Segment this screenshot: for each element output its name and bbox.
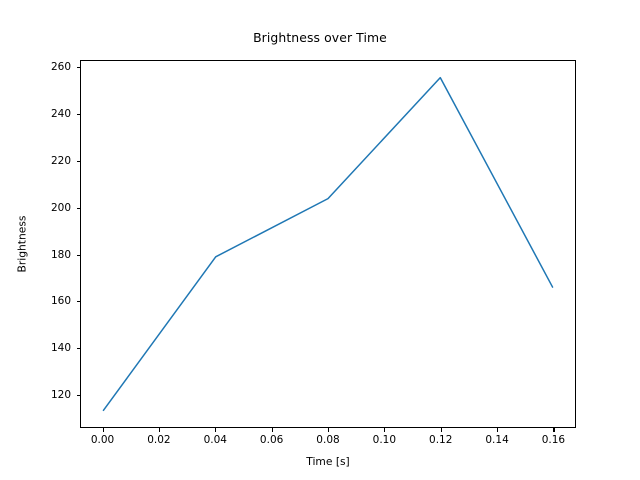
y-tick-mark [77,161,81,162]
y-tick-mark [77,395,81,396]
y-tick-label: 260 [0,61,71,73]
data-series-line [103,78,552,411]
y-tick-mark [77,67,81,68]
line-plot-svg [81,61,575,427]
figure-canvas: Brightness over Time 1201401601802002202… [0,0,640,480]
x-tick-mark [441,428,442,432]
x-tick-label: 0.16 [523,434,583,446]
chart-title: Brightness over Time [0,30,640,45]
x-tick-mark [272,428,273,432]
y-tick-label: 120 [0,389,71,401]
x-tick-mark [215,428,216,432]
y-tick-mark [77,348,81,349]
x-tick-mark [159,428,160,432]
x-tick-label: 0.12 [411,434,471,446]
y-tick-label: 200 [0,202,71,214]
x-tick-label: 0.02 [129,434,189,446]
y-axis-label: Brightness [16,216,29,273]
y-tick-label: 180 [0,249,71,261]
y-tick-label: 220 [0,155,71,167]
x-tick-label: 0.04 [185,434,245,446]
y-tick-mark [77,301,81,302]
x-tick-mark [328,428,329,432]
x-tick-mark [384,428,385,432]
y-tick-label: 160 [0,295,71,307]
y-tick-mark [77,114,81,115]
x-tick-mark [103,428,104,432]
x-tick-label: 0.00 [73,434,133,446]
y-tick-label: 240 [0,108,71,120]
x-tick-label: 0.14 [467,434,527,446]
x-tick-label: 0.06 [242,434,302,446]
y-tick-label: 140 [0,342,71,354]
x-tick-mark [553,428,554,432]
y-tick-mark [77,255,81,256]
x-tick-mark [497,428,498,432]
x-tick-label: 0.10 [354,434,414,446]
plot-axes-area [80,60,576,428]
y-tick-mark [77,208,81,209]
x-tick-label: 0.08 [298,434,358,446]
x-axis-label: Time [s] [80,455,576,468]
